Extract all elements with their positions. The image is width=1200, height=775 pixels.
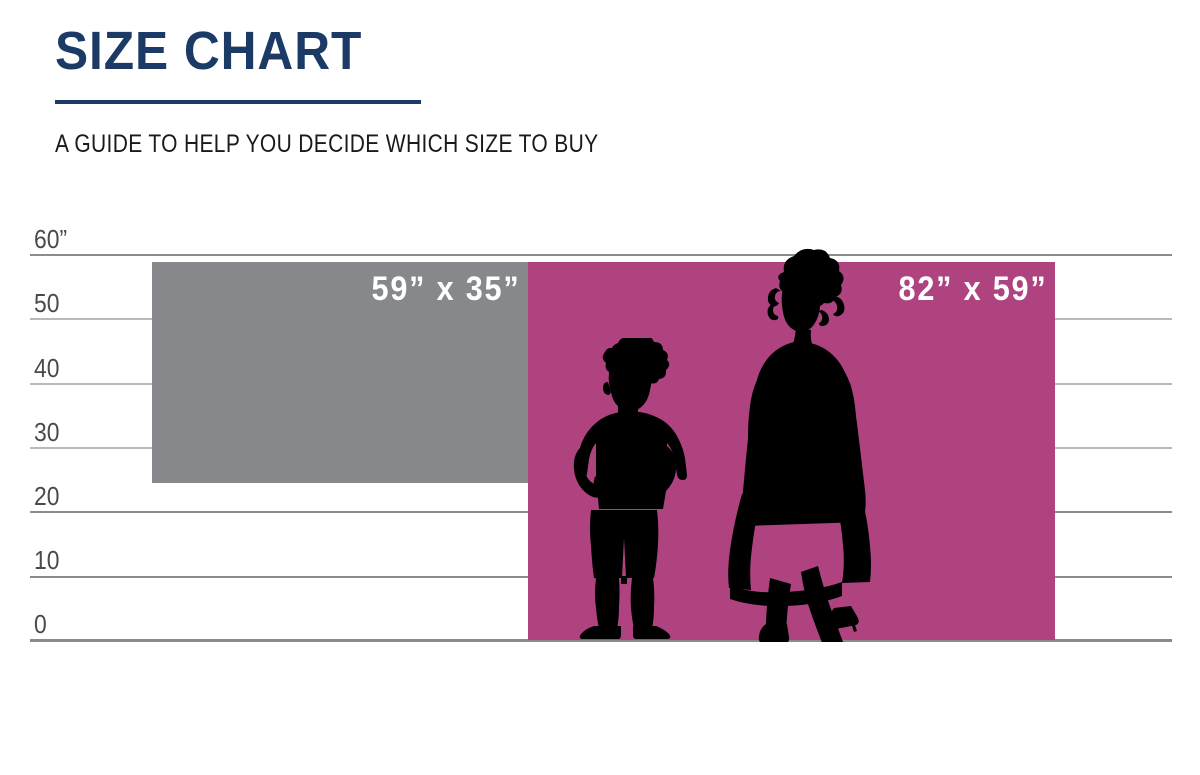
child-silhouette <box>563 338 687 640</box>
ytick-label-40: 40 <box>34 355 59 381</box>
bar-small-size-label: 59” x 35” <box>371 270 520 308</box>
ytick-label-20: 20 <box>34 483 59 509</box>
ytick-label-30: 30 <box>34 419 59 445</box>
ytick-label-0: 0 <box>34 611 47 637</box>
bar-large-size-label: 82” x 59” <box>898 270 1047 308</box>
woman-silhouette <box>722 248 894 642</box>
size-chart-infographic: SIZE CHART A GUIDE TO HELP YOU DECIDE WH… <box>0 0 1200 775</box>
bar-small-size[interactable]: 59” x 35” <box>152 262 528 483</box>
gridline-60 <box>30 254 1172 256</box>
chart-area: 60” 50 40 30 20 10 0 59” x 35” 82” x 59” <box>0 0 1200 775</box>
ytick-label-10: 10 <box>34 547 59 573</box>
ytick-label-50: 50 <box>34 290 59 316</box>
ytick-label-60: 60” <box>34 226 67 252</box>
